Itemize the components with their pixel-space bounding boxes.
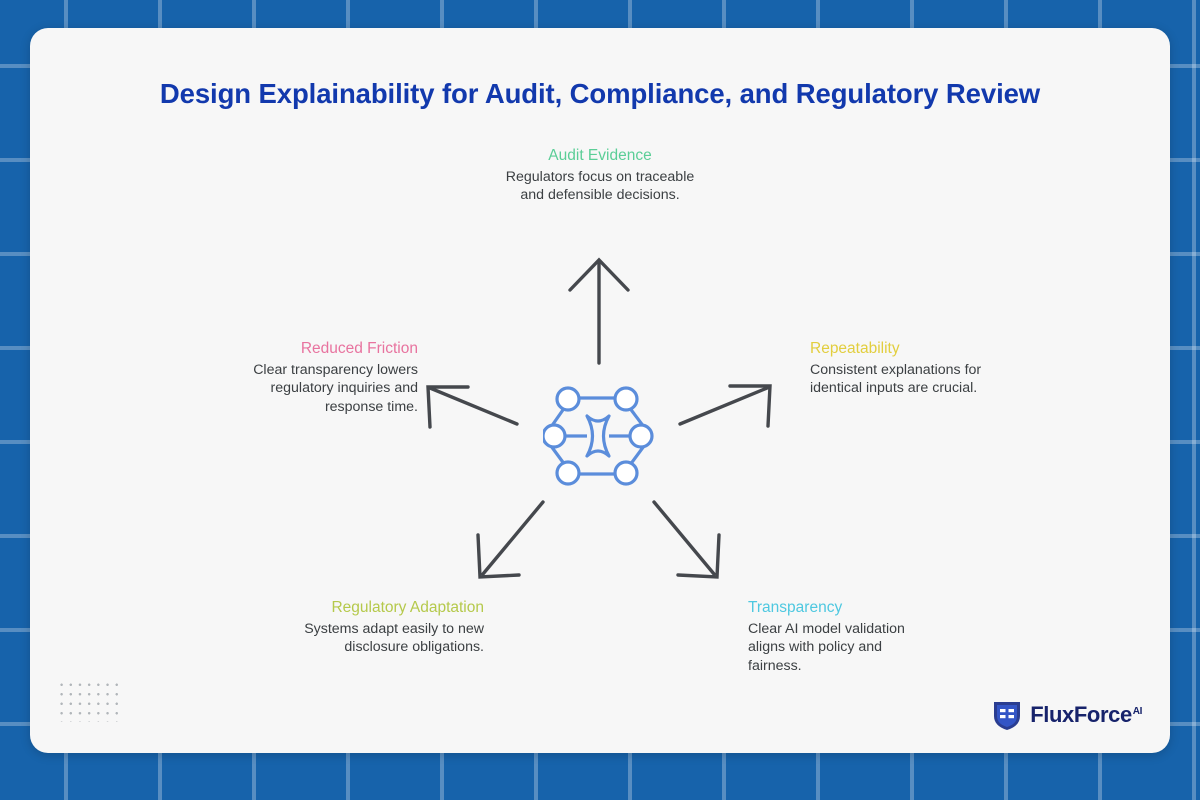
dot-grid-decoration [57,680,124,722]
node-regulatory-adaptation[interactable]: Regulatory Adaptation Systems adapt easi… [292,598,484,657]
node-heading: Transparency [748,598,934,619]
node-heading: Regulatory Adaptation [292,598,484,619]
arrow-up [570,260,628,363]
node-body: Clear AI model validation aligns with po… [748,620,934,676]
node-body: Regulators focus on traceable and defens… [500,168,700,205]
brand-logo[interactable]: FluxForceAI [992,699,1142,731]
node-heading: Repeatability [810,339,990,360]
logo-superscript: AI [1133,706,1142,717]
hexagon-network-node-icon [543,370,663,500]
node-body: Consistent explanations for identical in… [810,361,990,398]
logo-name: FluxForce [1030,702,1132,727]
infographic-canvas: Design Explainability for Audit, Complia… [0,0,1200,800]
logo-wordmark: FluxForceAI [1030,702,1142,728]
shield-icon [992,699,1022,731]
content-card: Design Explainability for Audit, Complia… [30,28,1170,753]
node-heading: Reduced Friction [248,339,418,360]
arrow-down-left [478,502,543,577]
node-audit-evidence[interactable]: Audit Evidence Regulators focus on trace… [500,146,700,205]
node-transparency[interactable]: Transparency Clear AI model validation a… [748,598,934,675]
node-body: Systems adapt easily to new disclosure o… [292,620,484,657]
node-heading: Audit Evidence [500,146,700,167]
node-body: Clear transparency lowers regulatory inq… [248,361,418,417]
node-reduced-friction[interactable]: Reduced Friction Clear transparency lowe… [248,339,418,416]
arrow-up-right [680,386,770,426]
page-title: Design Explainability for Audit, Complia… [30,78,1170,110]
node-repeatability[interactable]: Repeatability Consistent explanations fo… [810,339,990,398]
arrow-down-right [654,502,719,577]
arrow-up-left [428,387,517,427]
